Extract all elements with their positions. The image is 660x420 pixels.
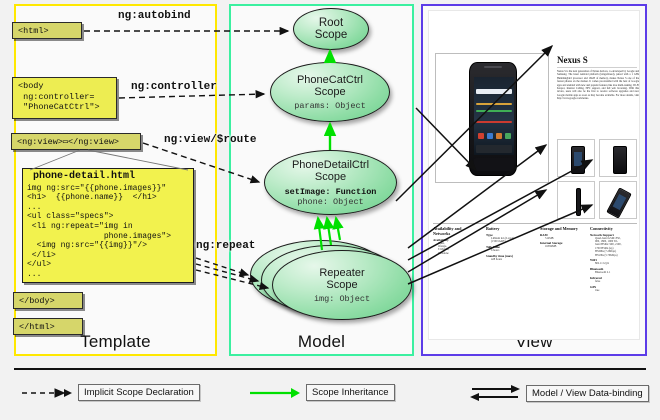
code-box-ngview-tag: <ng:view>▭</ng:view> xyxy=(11,133,141,150)
specs-header-storage: Storage and Memory xyxy=(540,226,586,231)
scope-phonedetailctrl-name: PhoneDetailCtrl Scope xyxy=(292,159,369,183)
product-title: Nexus S xyxy=(557,55,588,65)
phone-app-icon-4 xyxy=(505,133,511,139)
scope-phonedetailctrl: PhoneDetailCtrl Scope setImage: Function… xyxy=(264,150,397,215)
specs-column-battery: Battery Type Lithium Ion (Li-Ion) (1500 … xyxy=(486,226,536,261)
phone-app-icon-1 xyxy=(478,133,484,139)
code-box-close-html: </html> xyxy=(13,318,83,335)
detail-filename: phone-detail.html xyxy=(23,169,193,184)
specs-value-network: Quad-band GSM: 850, 900, 1800, 1900 Tri-… xyxy=(590,237,638,257)
scope-root: Root Scope xyxy=(293,8,369,50)
phone-device-illustration xyxy=(469,62,517,176)
specs-header-battery: Battery xyxy=(486,226,536,231)
specs-value-infrared: false xyxy=(590,280,638,283)
label-ng-controller: ng:controller xyxy=(131,81,217,93)
scope-phonecatctrl-prop-params: params: Object xyxy=(294,101,365,111)
legend-dashed-arrow-icon xyxy=(20,386,72,400)
legend-double-arrow-icon xyxy=(468,384,520,402)
phone-search-bar xyxy=(476,89,512,94)
panel-model-title: Model xyxy=(231,332,412,352)
scope-repeater-prop-img: img: Object xyxy=(314,294,370,304)
phone-app-icon-2 xyxy=(487,133,493,139)
legend-label-data-binding: Model / View Data-binding xyxy=(526,385,649,402)
thumbnail-3[interactable] xyxy=(557,181,595,219)
code-box-close-body: </body> xyxy=(13,292,83,309)
thumbnail-phone-front-icon xyxy=(571,146,585,174)
thumbnail-screen xyxy=(574,152,582,166)
code-box-phone-detail: phone-detail.html img ng:src="{{phone.im… xyxy=(22,168,194,283)
phone-widget-bar-3 xyxy=(476,121,512,123)
specs-column-availability: Availability and Networks Availability O… xyxy=(433,226,481,255)
product-description: Nexus S is the next generation of Nexus … xyxy=(557,70,639,101)
legend-label-scope-inheritance: Scope Inheritance xyxy=(306,384,395,401)
specs-value-availability: Open, Orange, T-Mobile, Vodafone xyxy=(433,242,481,256)
legend-item-scope-inheritance: Scope Inheritance xyxy=(248,384,395,401)
legend-label-implicit-scope: Implicit Scope Declaration xyxy=(78,384,200,401)
detail-code: img ng:src="{{phone.images}}" <h1> {{pho… xyxy=(23,184,193,280)
specs-value-battery-type: Lithium Ion (Li-Ion) (1500 mAH) xyxy=(486,237,536,244)
specs-divider xyxy=(433,223,637,224)
thumbnail-phone-angled-icon xyxy=(606,187,632,218)
specs-value-gps: true xyxy=(590,289,638,292)
legend-divider xyxy=(14,368,646,370)
specs-header-connectivity: Connectivity xyxy=(590,226,638,231)
scope-repeater: Repeater Scope img: Object xyxy=(272,250,412,320)
specs-value-internal-storage: 16384MB xyxy=(540,245,586,248)
thumbnail-screen-angled xyxy=(612,194,626,210)
scope-repeater-name: Repeater Scope xyxy=(319,267,364,291)
panel-template-title: Template xyxy=(16,332,215,352)
legend-green-arrow-icon xyxy=(248,386,300,400)
phone-screen xyxy=(474,77,514,155)
scope-root-name: Root Scope xyxy=(315,17,348,41)
legend-item-data-binding: Model / View Data-binding xyxy=(468,384,649,402)
specs-table: Availability and Networks Availability O… xyxy=(433,226,637,336)
phone-app-icon-3 xyxy=(496,133,502,139)
phone-speaker-icon xyxy=(484,66,502,68)
scope-phonedetailctrl-prop-phone: phone: Object xyxy=(297,197,363,207)
specs-column-storage: Storage and Memory RAM 512MB Internal St… xyxy=(540,226,586,249)
phone-dock xyxy=(476,145,512,153)
scope-phonedetailctrl-prop-setimage: setImage: Function xyxy=(285,187,377,197)
phone-widget-bar-1 xyxy=(476,103,512,105)
specs-value-ram: 512MB xyxy=(540,237,586,240)
title-divider xyxy=(557,67,637,68)
thumbnail-1[interactable] xyxy=(557,139,595,177)
legend-item-implicit-scope: Implicit Scope Declaration xyxy=(20,384,200,401)
specs-column-connectivity: Connectivity Network Support Quad-band G… xyxy=(590,226,638,293)
specs-value-bluetooth: Bluetooth 2.1 xyxy=(590,271,638,274)
thumbnail-phone-back-icon xyxy=(613,146,627,174)
thumbnail-4[interactable] xyxy=(599,181,637,219)
legend: Implicit Scope Declaration Scope Inherit… xyxy=(0,358,660,420)
label-ng-view-route: ng:view/$route xyxy=(164,134,256,146)
thumbnail-phone-side-icon xyxy=(576,188,581,216)
phone-hero-image-frame xyxy=(435,53,549,183)
code-box-html-tag: <html> xyxy=(12,22,82,39)
thumbnail-2[interactable] xyxy=(599,139,637,177)
phone-button-row xyxy=(474,158,514,171)
specs-value-talk-time: 6 hours xyxy=(486,249,536,252)
scope-phonecatctrl: PhoneCatCtrl Scope params: Object xyxy=(270,62,390,122)
specs-value-standby: 428 hours xyxy=(486,258,536,261)
label-ng-autobind: ng:autobind xyxy=(118,10,191,22)
diagram-root: Template Model View <html> <body ng:cont… xyxy=(0,0,660,420)
code-box-body-tag: <body ng:controller= "PhoneCatCtrl"> xyxy=(12,77,117,119)
specs-value-wifi: 802.11 b/g/n xyxy=(590,262,638,265)
label-ng-repeat: ng:repeat xyxy=(196,240,255,252)
specs-header-availability: Availability and Networks xyxy=(433,226,481,236)
scope-phonecatctrl-name: PhoneCatCtrl Scope xyxy=(297,74,363,98)
phone-widget-bar-2 xyxy=(476,110,512,112)
view-rendered-page: Nexus S Nexus S is the next generation o… xyxy=(428,10,640,340)
